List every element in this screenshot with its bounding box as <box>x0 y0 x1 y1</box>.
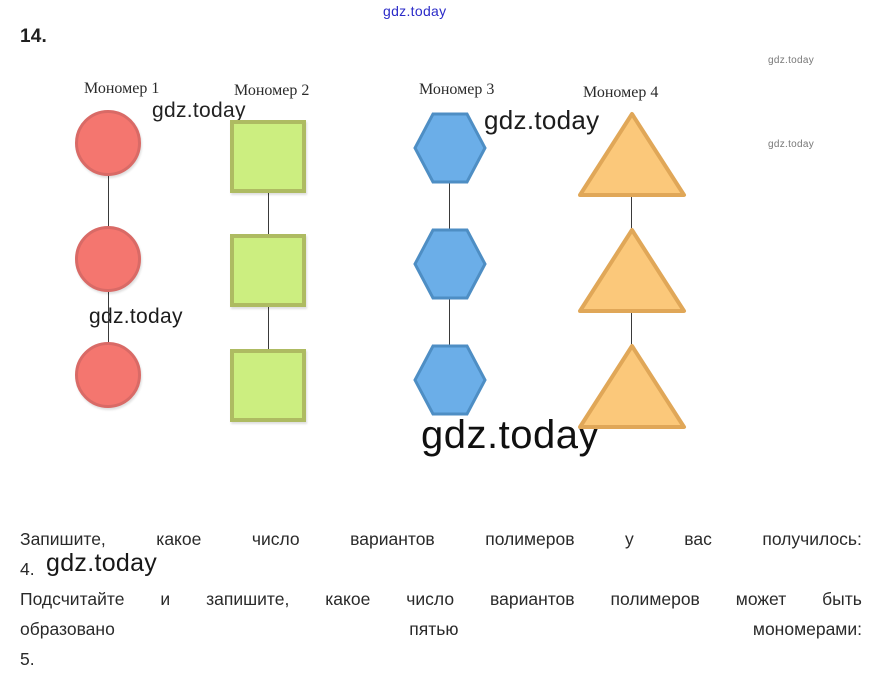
word: пятью <box>409 614 458 644</box>
monomer-shape-square <box>230 234 306 307</box>
connector-line <box>108 176 109 232</box>
watermark-big-center: gdz.today <box>421 413 599 458</box>
connector-line <box>449 298 450 346</box>
connector-line <box>108 292 109 348</box>
column-label-monomer-1: Мономер 1 <box>84 80 159 98</box>
connector-line <box>268 191 269 236</box>
word: вариантов <box>350 524 435 554</box>
monomer-shape-circle <box>75 342 141 408</box>
question-text-block: Запишите, какое число вариантов полимеро… <box>20 524 862 674</box>
word: образовано <box>20 614 115 644</box>
task-number: 14. <box>20 26 47 48</box>
word: полимеров <box>611 584 700 614</box>
question-1-answer: 4. <box>20 554 862 584</box>
connector-line <box>631 312 632 345</box>
question-2-line-2: образовано пятью мономерами: <box>20 614 862 644</box>
watermark-top-blue: gdz.today <box>383 3 446 19</box>
monomer-shape-square <box>230 349 306 422</box>
word: какое <box>325 584 370 614</box>
word: полимеров <box>485 524 574 554</box>
monomer-shape-circle <box>75 226 141 292</box>
word: у <box>625 524 634 554</box>
monomer-shape-triangle <box>576 342 688 430</box>
word: и <box>160 584 170 614</box>
word: число <box>406 584 454 614</box>
worksheet-page: 14. gdz.today gdz.today gdz.today gdz.to… <box>0 0 881 677</box>
question-2-answer: 5. <box>20 644 862 674</box>
monomer-shape-hexagon <box>413 344 487 416</box>
column-label-monomer-2: Мономер 2 <box>234 82 309 100</box>
monomer-shape-hexagon <box>413 112 487 184</box>
column-label-monomer-4: Мономер 4 <box>583 84 658 102</box>
monomer-shape-square <box>230 120 306 193</box>
word: запишите, <box>206 584 289 614</box>
watermark-mid-lower-left: gdz.today <box>89 305 183 329</box>
word: Подсчитайте <box>20 584 124 614</box>
monomer-shape-circle <box>75 110 141 176</box>
word: получилось: <box>762 524 862 554</box>
watermark-right-upper: gdz.today <box>768 55 814 66</box>
connector-line <box>268 307 269 352</box>
word: может <box>736 584 786 614</box>
question-1-line-1: Запишите, какое число вариантов полимеро… <box>20 524 862 554</box>
connector-line <box>631 196 632 229</box>
word: какое <box>156 524 201 554</box>
word: вас <box>684 524 712 554</box>
monomer-shape-hexagon <box>413 228 487 300</box>
monomer-shape-triangle <box>576 110 688 198</box>
monomer-shape-triangle <box>576 226 688 314</box>
word: вариантов <box>490 584 575 614</box>
word: мономерами: <box>753 614 862 644</box>
word: число <box>252 524 300 554</box>
column-label-monomer-3: Мономер 3 <box>419 81 494 99</box>
watermark-right-lower: gdz.today <box>768 139 814 150</box>
word: быть <box>822 584 862 614</box>
connector-line <box>449 182 450 230</box>
question-2-line-1: Подсчитайте и запишите, какое число вари… <box>20 584 862 614</box>
word: Запишите, <box>20 524 106 554</box>
